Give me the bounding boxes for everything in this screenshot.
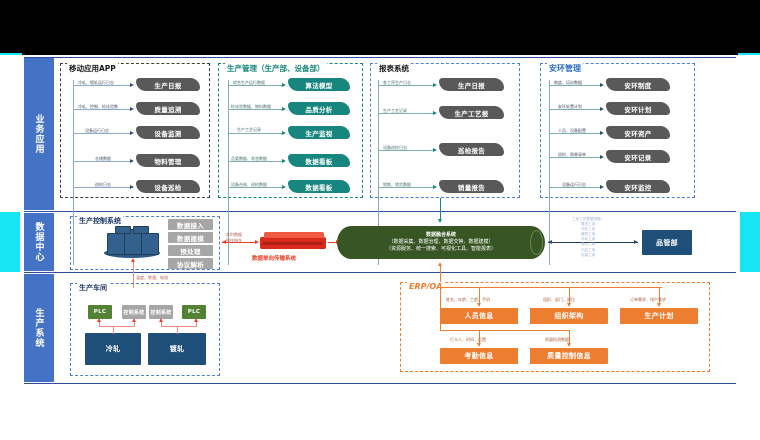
pm-arrow-2 (282, 131, 286, 135)
erp-arrow-bottom-1 (567, 343, 571, 347)
erp-edge-label-bottom-0: 打卡人、时间、位置 (450, 337, 486, 343)
workshop-up-ctrlright (161, 322, 162, 327)
accent-line-left (0, 53, 22, 55)
workshop-arrow-ctrlright (159, 318, 163, 322)
node-ehs-2[interactable]: 安环资产 (606, 126, 670, 139)
region-report-system-title: 报表系统 (377, 63, 411, 74)
erp-riser-b1 (569, 330, 570, 344)
ehs-edge-label-2: 人员、设备配置 (558, 128, 586, 134)
node-erp-top-2[interactable]: 生产计划 (620, 308, 698, 324)
node-pm-1[interactable]: 品质分析 (288, 102, 350, 115)
node-ehs-0[interactable]: 安环制度 (606, 78, 670, 91)
workshop-arrow-ctrlleft (132, 318, 136, 322)
server-top-1 (115, 226, 131, 234)
band-separator-header (24, 57, 736, 58)
mobile-edge-label-0: 冷轧、镀轧运行日志 (78, 80, 114, 86)
accent-band-right (740, 212, 760, 272)
band-business-label: 业务应用 (33, 114, 46, 154)
control-edge-label-0: 温度、转速、电流 (136, 275, 168, 281)
node-ehs-4[interactable]: 安环监控 (606, 180, 670, 193)
node-line-galvanizing[interactable]: 镀轧 (148, 333, 206, 365)
rs-edge-label-1: 生产工艺记录 (383, 108, 407, 114)
ehs-arrow-4 (600, 185, 604, 189)
workshop-to-control-arrow (131, 258, 135, 262)
node-mobile-0[interactable]: 生产日报 (136, 78, 200, 91)
band-separator-mid (24, 272, 736, 273)
mobile-edge-label-3: 仓储数据 (95, 156, 111, 162)
ehs-spine (549, 80, 550, 265)
accent-band-left (0, 212, 20, 272)
data-fusion-system[interactable]: 数据融合系统 （数据采集、数据治理、数据交换、数据建模） （资源服务、统一搜索、… (337, 226, 545, 259)
node-ctrl-left[interactable]: 控制系统 (122, 305, 146, 319)
band-production: 生产系统 (24, 274, 54, 382)
workshop-up-plcleft (99, 322, 100, 327)
pm-edge-label-3: 品管数据、状态数据 (231, 156, 267, 162)
node-pm-0[interactable]: 算法模型 (288, 78, 350, 91)
fusion-text-block: 数据融合系统 （数据采集、数据治理、数据交换、数据建模） （资源服务、统一搜索、… (386, 232, 496, 254)
accent-line-right (738, 53, 760, 55)
workshop-riser-left (113, 326, 114, 334)
pm-branch-2 (228, 133, 283, 134)
node-mobile-2[interactable]: 设备监测 (136, 126, 200, 139)
process-list: 工序工艺数据流程： 酸洗工序 冷轧工序 镀锌工序 冷轧工序 退火工序 切边工序 … (572, 217, 604, 263)
node-quality-dept[interactable]: 品管部 (642, 230, 692, 255)
node-plc-right[interactable]: PLC (182, 305, 206, 319)
cylinder-cap (530, 230, 543, 255)
rs-arrow-0 (433, 83, 437, 87)
region-ehs-mgmt-title: 安环管理 (547, 63, 583, 74)
gateway-caption: 数据单向传输系统 (252, 254, 296, 262)
pm-edge-label-0: 综合生产运行数据 (233, 80, 265, 86)
mobile-edge-label-2: 设备运行日志 (85, 128, 109, 134)
quality-in-arrow (634, 240, 638, 244)
ehs-edge-label-3: 巡检、隐患录单 (558, 152, 586, 158)
mobile-arrow-1 (130, 107, 134, 111)
node-pm-3[interactable]: 数据看板 (288, 154, 350, 167)
erp-edge-label-top-1: 组织、部门、岗位 (543, 297, 575, 303)
pm-edge-label-2: 生产工艺记录 (237, 127, 261, 133)
mobile-arrow-3 (130, 159, 134, 163)
erp-edge-label-top-2: 订单需求、排产需求 (630, 297, 666, 303)
band-separator-bottom (24, 383, 736, 384)
diagram-canvas: 业务应用 数据中心 生产系统 移动应用APP 冷轧、镀轧运行日志 生产日报 冷轧… (0, 0, 760, 440)
node-control-1[interactable]: 数据建模 (168, 232, 213, 243)
mobile-edge-label-1: 冷轧、控制、检化验数 (78, 104, 118, 110)
node-control-3[interactable]: 协议解析 (168, 258, 213, 269)
pm-arrow-1 (282, 107, 286, 111)
workshop-up-ctrlleft (134, 322, 135, 327)
rs-edge-label-0: 各工序生产日志 (383, 80, 411, 86)
rs-edge-label-2: 设备巡检日志 (383, 145, 407, 151)
node-control-2[interactable]: 预处理 (168, 245, 213, 256)
erp-arrow-top-0 (477, 303, 481, 307)
workshop-arrow-plcleft (97, 318, 101, 322)
node-line-cold-rolling[interactable]: 冷轧 (85, 333, 141, 365)
business-to-fusion-line (440, 198, 441, 220)
server-top-2 (133, 226, 149, 234)
ehs-arrow-0 (600, 83, 604, 87)
node-mobile-1[interactable]: 质量追溯 (136, 102, 200, 115)
control-to-gateway-arrow (255, 240, 259, 244)
gateway-device-strip (263, 242, 324, 245)
node-rs-2[interactable]: 巡检报告 (439, 143, 504, 156)
fusion-line-3: （资源服务、统一搜索、可视化工具、智能报表） (386, 246, 496, 253)
ehs-edge-label-4: 设备运行日志 (562, 182, 586, 188)
mobile-arrow-0 (130, 83, 134, 87)
band-datacenter: 数据中心 (24, 213, 54, 271)
node-rs-0[interactable]: 生产日报 (439, 78, 504, 91)
workshop-arrow-plcright (194, 318, 198, 322)
workshop-bus-left (99, 326, 135, 327)
region-control-system-title: 生产控制系统 (77, 216, 123, 226)
region-mobile-app-title: 移动应用APP (67, 63, 118, 74)
pm-arrow-3 (282, 159, 286, 163)
node-ehs-1[interactable]: 安环计划 (606, 102, 670, 115)
process-list-item-7: … (572, 258, 604, 263)
fusion-title: 数据融合系统 (386, 232, 496, 239)
band-datacenter-label: 数据中心 (33, 222, 46, 262)
node-erp-bottom-0[interactable]: 考勤信息 (440, 348, 518, 364)
band-separator-top (24, 211, 736, 212)
workshop-up-plcright (196, 322, 197, 327)
ehs-edge-label-0: 制度、培训数据 (554, 80, 582, 86)
mobile-edge-label-4: 巡检日志 (95, 182, 111, 188)
pm-arrow-0 (282, 83, 286, 87)
node-ctrl-right[interactable]: 控制系统 (149, 305, 173, 319)
erp-arrow-top-1 (567, 303, 571, 307)
server-unit-3 (141, 233, 159, 255)
region-workshop-title: 生产车间 (77, 283, 109, 293)
gateway-in-label-2: 操作指令 (226, 238, 242, 244)
node-erp-top-0[interactable]: 人员信息 (440, 308, 518, 324)
node-erp-top-1[interactable]: 组织架构 (530, 308, 608, 324)
business-to-fusion-arrow (438, 219, 442, 223)
erp-to-fusion-arrow (438, 262, 442, 266)
workshop-bus-right (161, 326, 197, 327)
fusion-right-arrow (548, 240, 552, 244)
mobile-arrow-4 (130, 185, 134, 189)
band-business: 业务应用 (24, 58, 54, 210)
rs-edge-label-3: 销售、销货数据 (383, 182, 411, 188)
rs-arrow-1 (433, 111, 437, 115)
rs-arrow-2 (433, 148, 437, 152)
region-production-mgmt-title: 生产管理（生产部、设备部） (225, 63, 327, 74)
ehs-arrow-1 (600, 107, 604, 111)
mobile-arrow-2 (130, 131, 134, 135)
erp-arrow-top-2 (657, 303, 661, 307)
ehs-arrow-2 (600, 131, 604, 135)
node-pm-2[interactable]: 生产监视 (288, 126, 350, 139)
node-pm-4[interactable]: 数据看板 (288, 180, 350, 193)
gateway-device (260, 237, 326, 249)
pm-edge-label-1: 检化验数据、物料数据 (231, 104, 271, 110)
node-rs-3[interactable]: 销量报告 (439, 180, 504, 193)
pm-arrow-4 (282, 185, 286, 189)
band-production-label: 生产系统 (33, 308, 46, 348)
erp-edge-label-bottom-1: 质量检测数据 (545, 337, 569, 343)
erp-bus-bottom-left (440, 287, 441, 331)
letterbox-bottom (0, 385, 760, 440)
erp-bus-bottom (440, 330, 570, 331)
ehs-arrow-3 (600, 155, 604, 159)
erp-bus-top (440, 287, 662, 288)
node-mobile-4[interactable]: 设备巡检 (136, 180, 200, 193)
rs-arrow-3 (433, 185, 437, 189)
letterbox-top (0, 0, 760, 55)
gateway-device-top (264, 232, 324, 238)
ehs-edge-label-1: 安环处置计划 (558, 104, 582, 110)
node-erp-bottom-1[interactable]: 质量控制信息 (530, 348, 608, 364)
node-ehs-3[interactable]: 安环记录 (606, 150, 670, 163)
workshop-riser-right (177, 326, 178, 334)
erp-arrow-bottom-0 (477, 343, 481, 347)
erp-edge-label-top-0: 姓名、年龄、工龄、手机 (446, 297, 490, 303)
node-plc-left[interactable]: PLC (88, 305, 112, 319)
region-erp-oa-title: ERP/OA (407, 282, 444, 291)
server-unit-1 (107, 233, 125, 255)
node-rs-1[interactable]: 生产工艺报 (439, 106, 504, 119)
node-control-0[interactable]: 数据接入 (168, 219, 213, 230)
node-mobile-3[interactable]: 物料管理 (136, 154, 200, 167)
pm-edge-label-4: 设备台账、巡检数据 (231, 182, 267, 188)
